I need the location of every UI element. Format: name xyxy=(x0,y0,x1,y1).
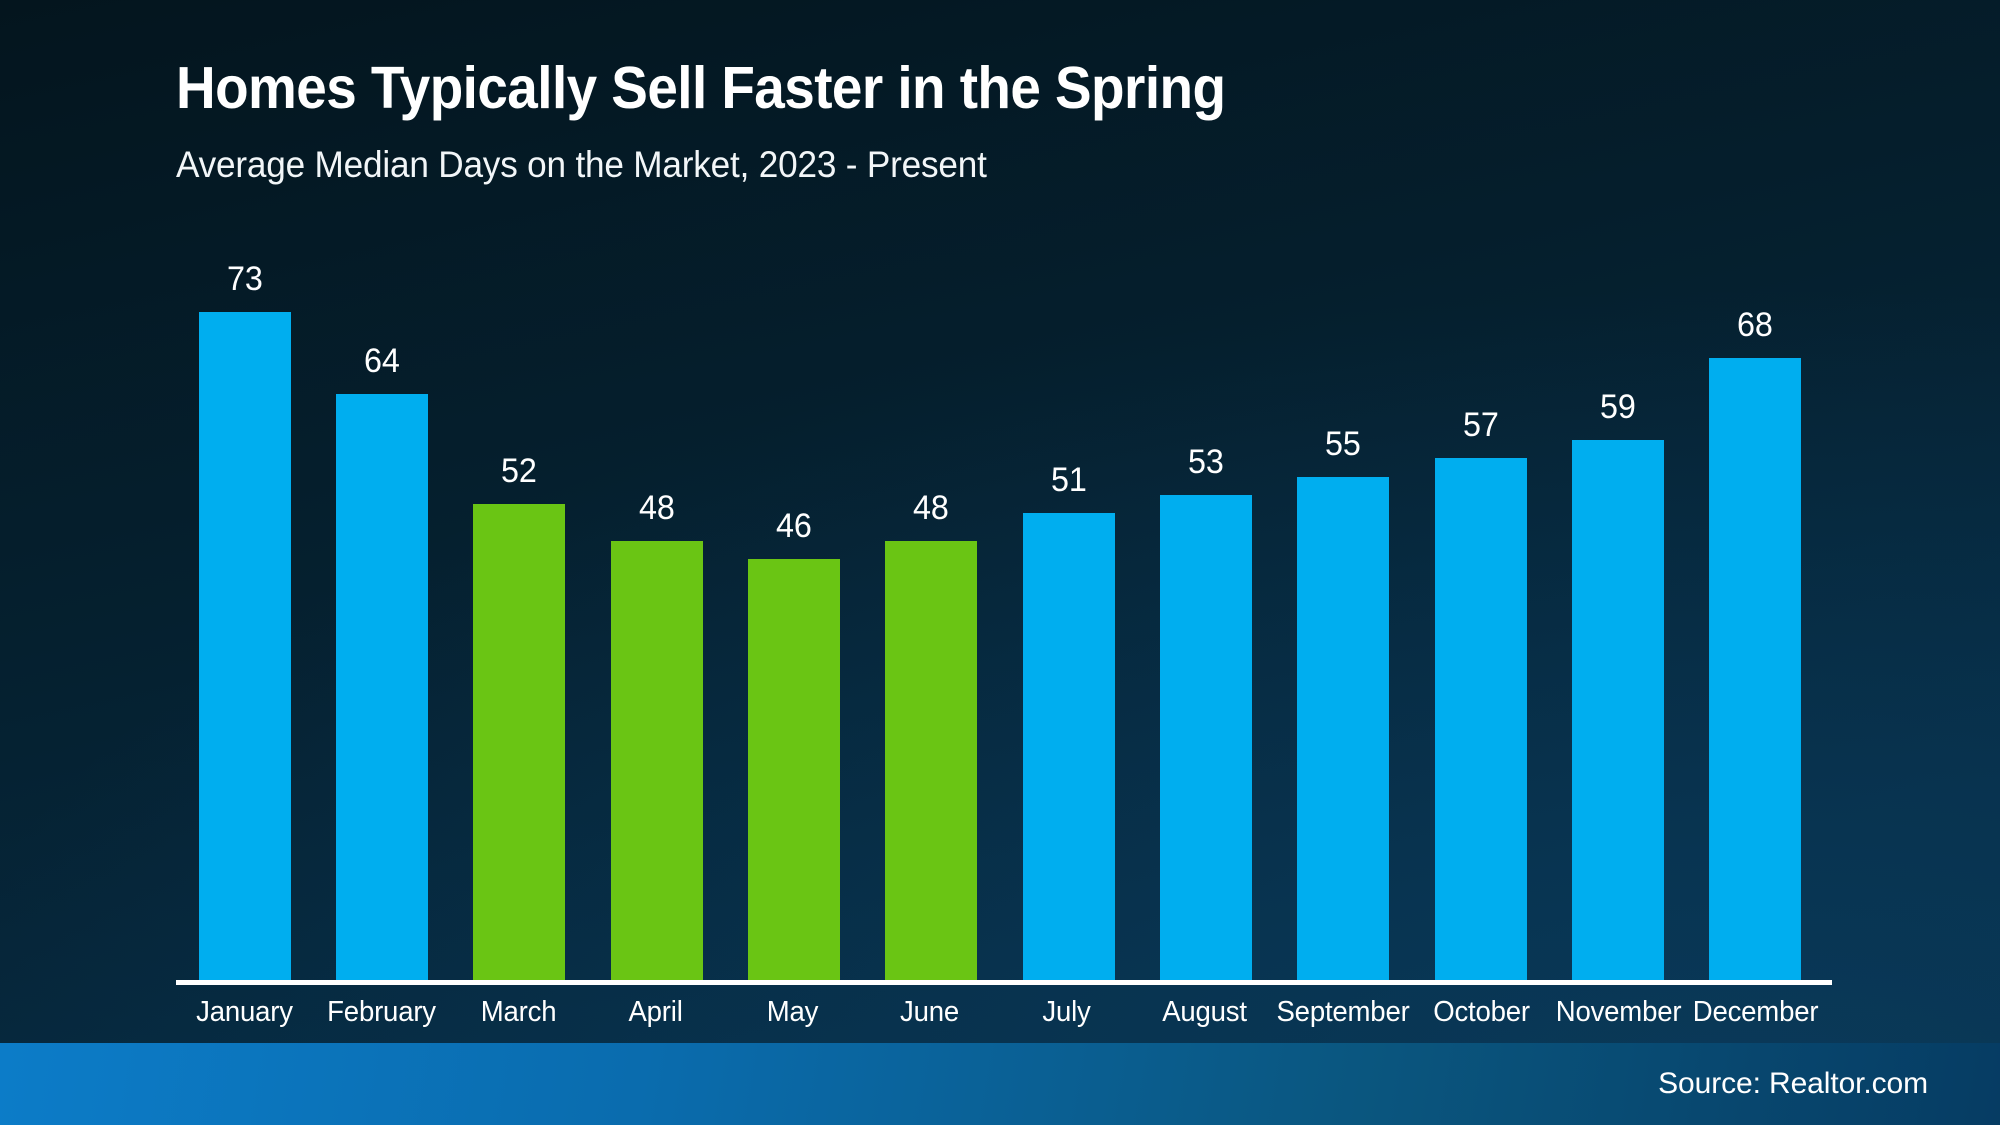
bar-group-april[interactable]: 48 xyxy=(588,260,725,980)
bar-group-march[interactable]: 52 xyxy=(451,260,588,980)
bar-value-label: 46 xyxy=(776,509,812,543)
x-axis-tick-labels: JanuaryFebruaryMarchAprilMayJuneJulyAugu… xyxy=(176,996,1824,1029)
bar-chart-plot-area: 736452484648515355575968 xyxy=(176,260,1824,980)
bar-june[interactable] xyxy=(885,541,977,980)
bar-group-december[interactable]: 68 xyxy=(1687,260,1824,980)
x-axis-label-april: April xyxy=(591,996,721,1029)
x-axis-label-july: July xyxy=(1002,996,1132,1029)
bar-group-june[interactable]: 48 xyxy=(863,260,1000,980)
x-axis-label-january: January xyxy=(179,996,309,1029)
bar-may[interactable] xyxy=(748,559,840,980)
x-axis-label-november: November xyxy=(1553,996,1683,1029)
x-axis-label-march: March xyxy=(454,996,584,1029)
bar-value-label: 57 xyxy=(1463,408,1499,442)
x-axis-label-february: February xyxy=(317,996,447,1029)
x-axis-line xyxy=(176,980,1832,985)
bar-july[interactable] xyxy=(1023,513,1115,980)
bar-value-label: 52 xyxy=(501,454,537,488)
page-title: Homes Typically Sell Faster in the Sprin… xyxy=(176,58,1757,120)
x-axis-label-september: September xyxy=(1276,996,1409,1029)
bar-april[interactable] xyxy=(611,541,703,980)
bar-value-label: 53 xyxy=(1188,445,1224,479)
bar-february[interactable] xyxy=(336,394,428,980)
x-axis-label-december: December xyxy=(1690,996,1820,1029)
x-axis-label-may: May xyxy=(728,996,858,1029)
bar-value-label: 73 xyxy=(227,262,263,296)
x-axis-label-august: August xyxy=(1139,996,1269,1029)
bar-group-january[interactable]: 73 xyxy=(176,260,313,980)
source-attribution: Source: Realtor.com xyxy=(1658,1067,1928,1101)
bar-december[interactable] xyxy=(1709,358,1801,980)
bar-september[interactable] xyxy=(1297,477,1389,980)
footer-bar: Source: Realtor.com xyxy=(0,1043,2000,1125)
bar-group-july[interactable]: 51 xyxy=(1000,260,1137,980)
bar-group-august[interactable]: 53 xyxy=(1137,260,1274,980)
bar-series: 736452484648515355575968 xyxy=(176,260,1824,980)
bar-november[interactable] xyxy=(1572,440,1664,980)
bar-value-label: 51 xyxy=(1051,463,1087,497)
bar-value-label: 59 xyxy=(1600,390,1636,424)
x-axis-label-june: June xyxy=(865,996,995,1029)
x-axis-label-october: October xyxy=(1416,996,1546,1029)
bar-group-september[interactable]: 55 xyxy=(1275,260,1412,980)
bar-group-may[interactable]: 46 xyxy=(725,260,862,980)
bar-group-november[interactable]: 59 xyxy=(1549,260,1686,980)
bar-group-february[interactable]: 64 xyxy=(313,260,450,980)
bar-value-label: 48 xyxy=(913,491,949,525)
bar-value-label: 64 xyxy=(364,344,400,378)
chart-header: Homes Typically Sell Faster in the Sprin… xyxy=(176,58,1876,186)
slide-canvas: Homes Typically Sell Faster in the Sprin… xyxy=(0,0,2000,1125)
bar-group-october[interactable]: 57 xyxy=(1412,260,1549,980)
bar-january[interactable] xyxy=(199,312,291,980)
bar-march[interactable] xyxy=(473,504,565,980)
bar-value-label: 48 xyxy=(639,491,675,525)
bar-august[interactable] xyxy=(1160,495,1252,980)
bar-value-label: 68 xyxy=(1737,308,1773,342)
bar-value-label: 55 xyxy=(1325,427,1361,461)
bar-october[interactable] xyxy=(1435,458,1527,980)
page-subtitle: Average Median Days on the Market, 2023 … xyxy=(176,144,1791,186)
